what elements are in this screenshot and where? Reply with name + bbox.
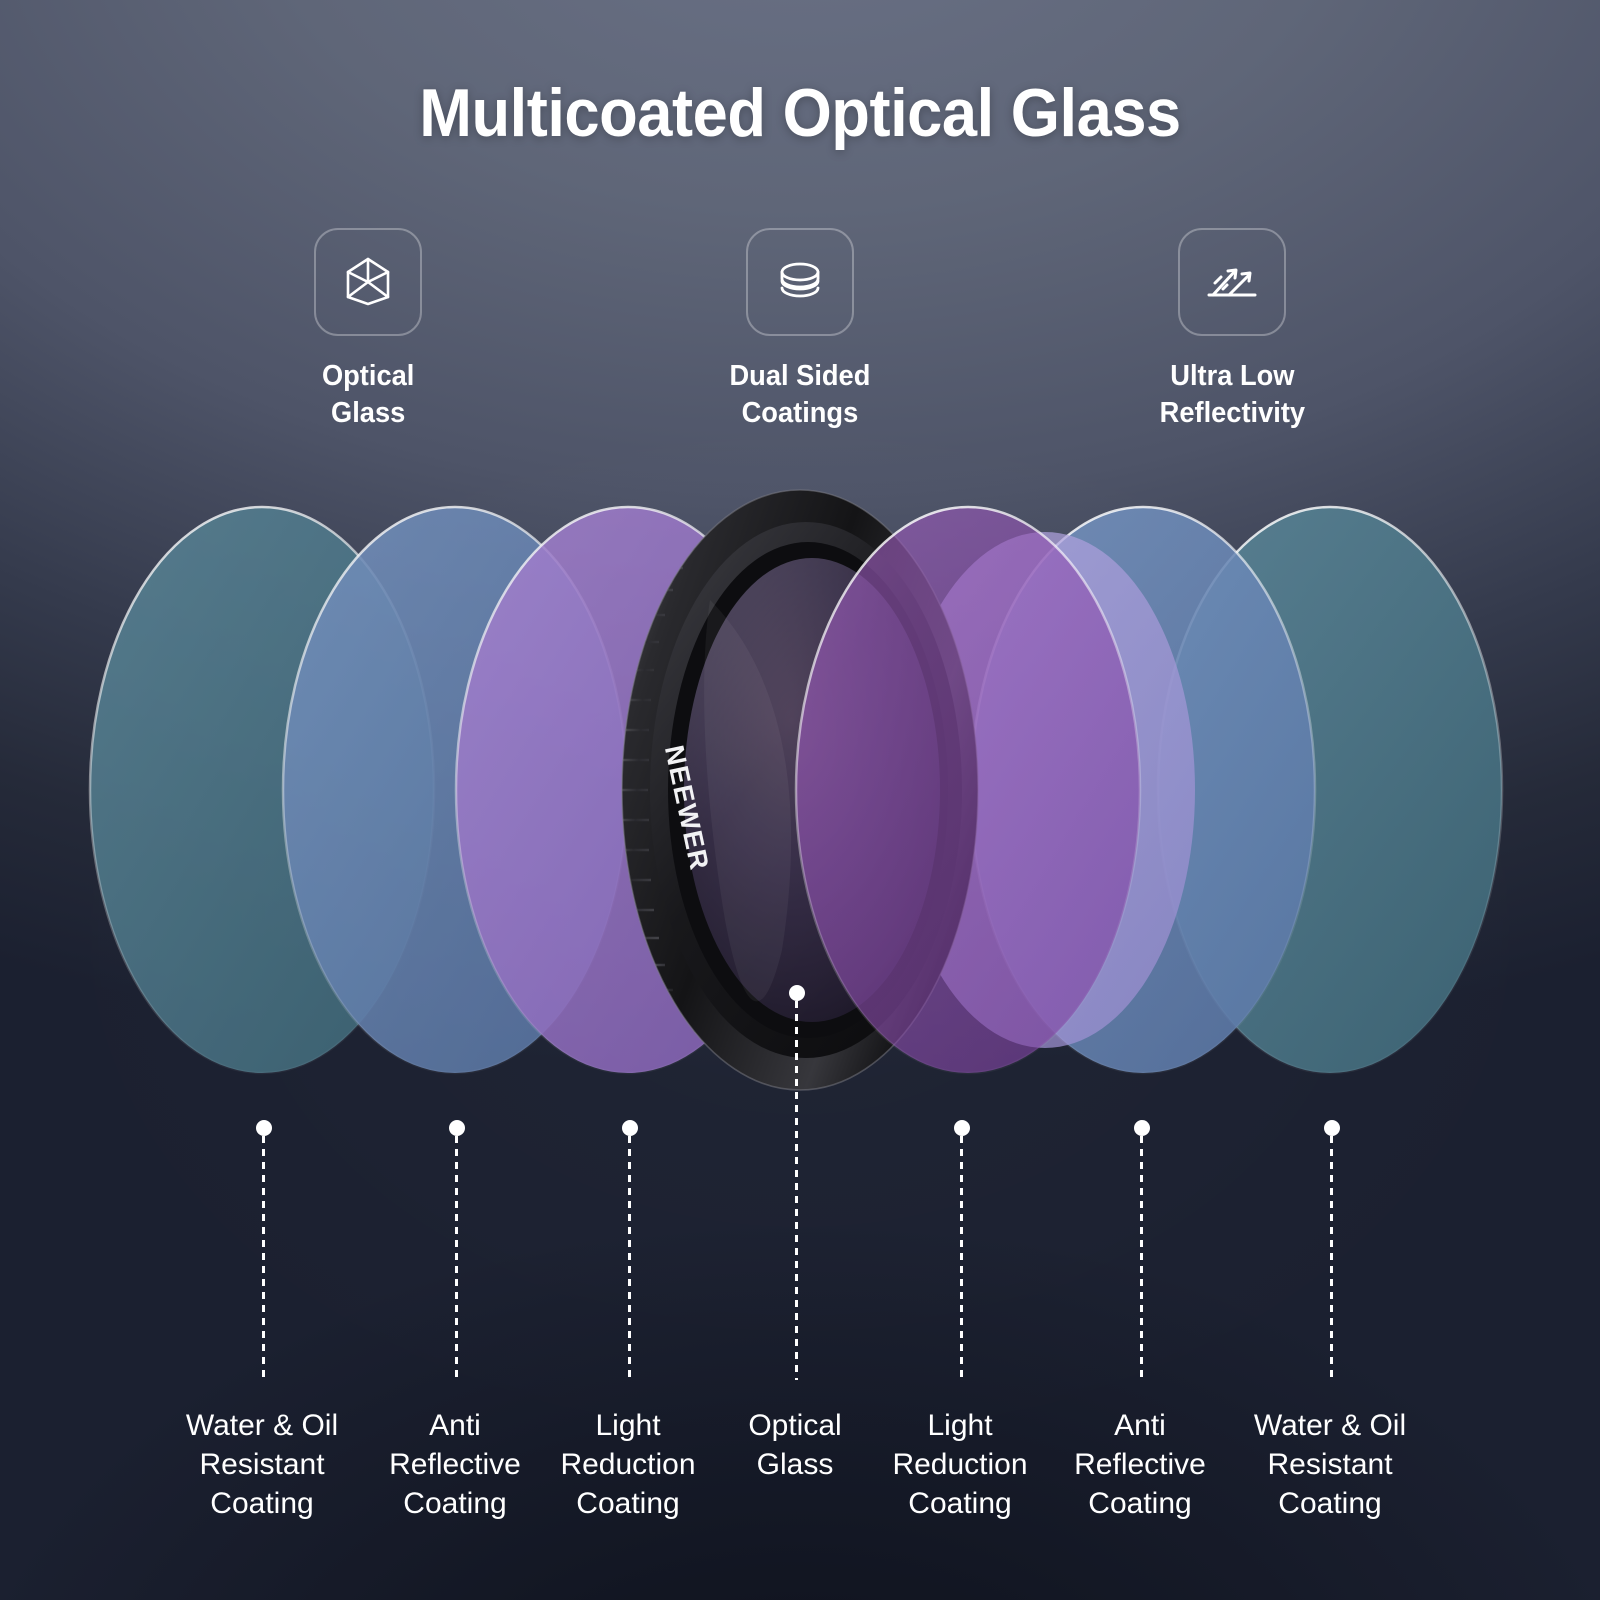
callout-dot: [1134, 1120, 1150, 1136]
callout-leader-line: [262, 1136, 265, 1380]
callout-leader-line: [795, 1001, 798, 1380]
callout-dot: [789, 985, 805, 1001]
callout-dot: [954, 1120, 970, 1136]
callout-group: Water & Oil Resistant Coating Anti Refle…: [0, 0, 1600, 1600]
callout-dot: [256, 1120, 272, 1136]
callout-leader-line: [960, 1136, 963, 1380]
callout-dot: [1324, 1120, 1340, 1136]
callout-leader-line: [1140, 1136, 1143, 1380]
infographic-canvas: Multicoated Optical Glass Optical Glass: [0, 0, 1600, 1600]
callout-dot: [449, 1120, 465, 1136]
callout-label-water-oil-right: Water & Oil Resistant Coating: [1210, 1406, 1450, 1523]
callout-dot: [622, 1120, 638, 1136]
callout-leader-line: [628, 1136, 631, 1380]
callout-leader-line: [455, 1136, 458, 1380]
callout-leader-line: [1330, 1136, 1333, 1380]
